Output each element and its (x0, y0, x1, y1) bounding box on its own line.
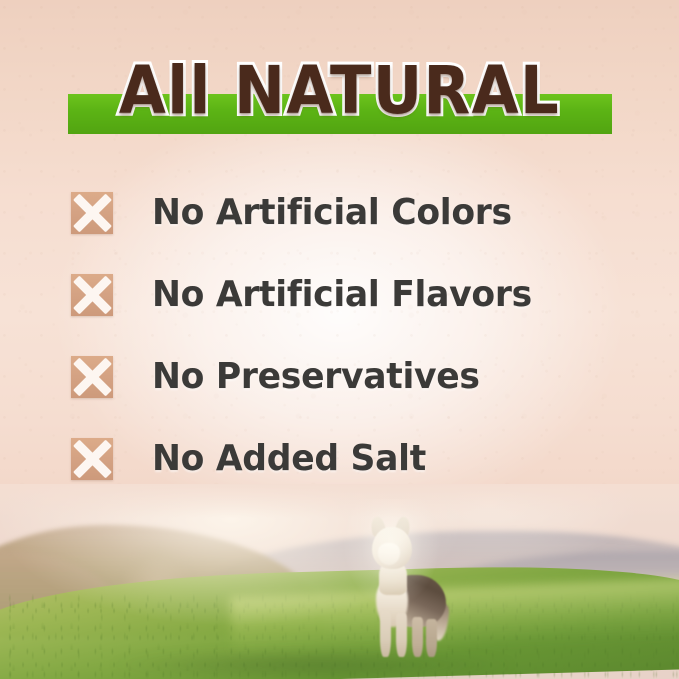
dog-leg (396, 613, 407, 657)
title-banner: All NATURAL (0, 52, 679, 130)
lifestyle-photo (0, 484, 679, 679)
page-title: All NATURAL (27, 52, 652, 130)
x-mark-icon (71, 274, 113, 316)
claim-label: No Artificial Colors (152, 195, 512, 231)
claim-label: No Added Salt (152, 441, 426, 477)
dog-leg (426, 619, 437, 657)
dog-leg (380, 611, 391, 657)
claim-label: No Preservatives (152, 359, 480, 395)
list-item: No Artificial Flavors (0, 254, 679, 336)
x-mark-icon (71, 438, 113, 480)
dog-leg (412, 617, 423, 657)
x-mark-icon (71, 192, 113, 234)
list-item: No Artificial Colors (0, 172, 679, 254)
grass-shadow (14, 647, 612, 677)
dog-photo-subject (366, 517, 454, 659)
claim-label: No Artificial Flavors (152, 277, 532, 313)
all-natural-product-poster: All NATURAL No Artificial Colors No Arti… (0, 0, 679, 679)
x-mark-icon (71, 356, 113, 398)
claims-list: No Artificial Colors No Artificial Flavo… (0, 172, 679, 500)
list-item: No Preservatives (0, 336, 679, 418)
